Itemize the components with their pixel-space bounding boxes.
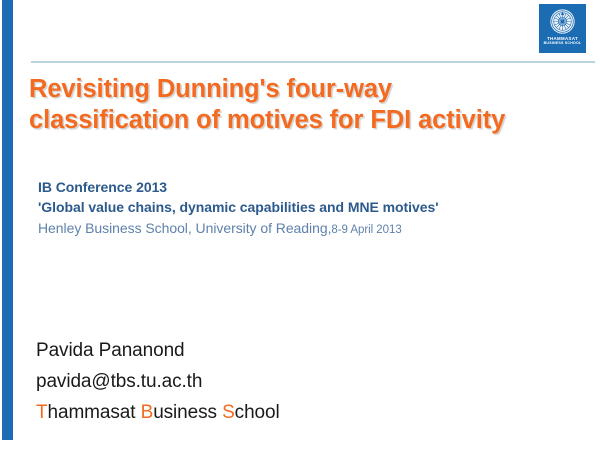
affiliation-cap-s: S <box>222 402 235 423</box>
conference-theme: 'Global value chains, dynamic capabiliti… <box>38 198 558 218</box>
left-accent-bar <box>2 0 13 440</box>
affiliation-cap-t: T <box>36 402 48 423</box>
page-title: Revisiting Dunning's four-way classifica… <box>29 74 579 136</box>
affiliation-cap-b: B <box>141 402 154 423</box>
title-slide: THAMMASAT BUSINESS SCHOOL Revisiting Dun… <box>0 0 600 450</box>
conference-date: 8-9 April 2013 <box>331 224 401 236</box>
conference-block: IB Conference 2013 'Global value chains,… <box>38 178 558 238</box>
title-line-2: classification of motives for FDI activi… <box>29 105 579 136</box>
conference-name: IB Conference 2013 <box>38 178 558 198</box>
title-line-1: Revisiting Dunning's four-way <box>29 74 579 105</box>
author-affiliation: Thammasat Business School <box>36 398 456 429</box>
logo-line-2: BUSINESS SCHOOL <box>544 42 582 46</box>
author-block: Pavida Pananond pavida@tbs.tu.ac.th Tham… <box>36 336 456 428</box>
conference-venue-line: Henley Business School, University of Re… <box>38 218 558 239</box>
logo-wordmark: THAMMASAT BUSINESS SCHOOL <box>544 37 582 46</box>
author-name: Pavida Pananond <box>36 336 456 367</box>
affiliation-rest-t: hammasat <box>48 402 141 423</box>
dharmachakra-wheel-icon <box>549 8 576 35</box>
author-email[interactable]: pavida@tbs.tu.ac.th <box>36 367 456 398</box>
affiliation-rest-b: usiness <box>153 402 222 423</box>
affiliation-rest-s: chool <box>235 402 280 423</box>
thammasat-business-school-logo: THAMMASAT BUSINESS SCHOOL <box>539 4 586 53</box>
header-divider <box>31 61 595 63</box>
conference-venue: Henley Business School, University of Re… <box>38 220 331 236</box>
